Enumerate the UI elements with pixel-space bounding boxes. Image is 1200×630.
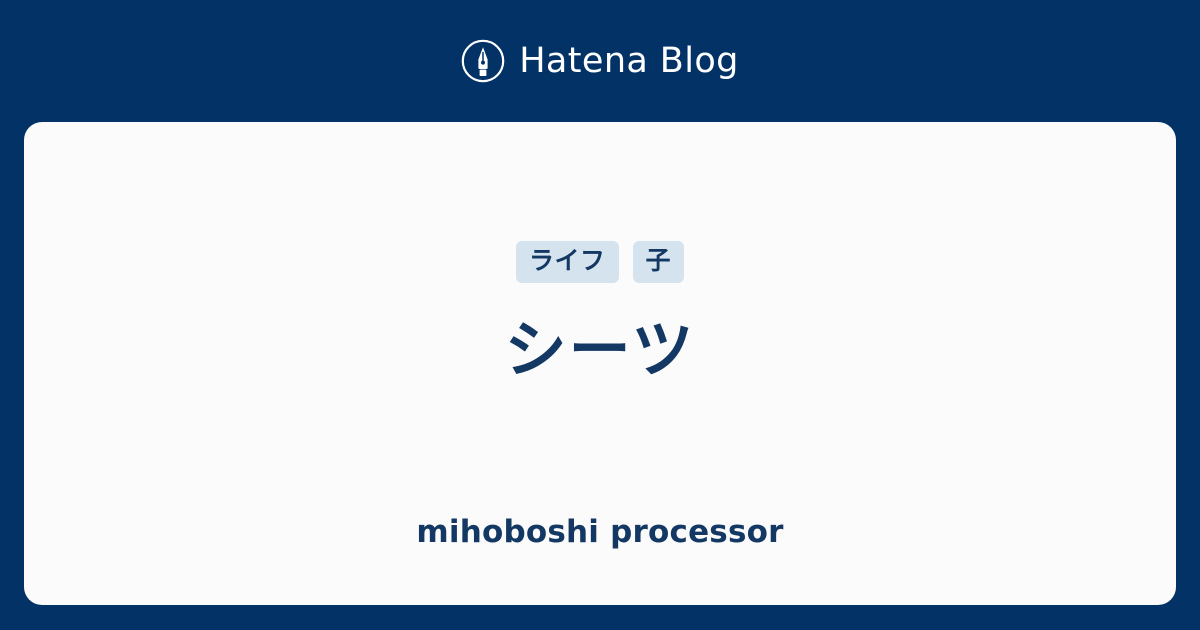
fountain-pen-nib-in-circle-icon — [461, 39, 505, 83]
hatena-blog-brand[interactable]: Hatena Blog — [461, 38, 739, 84]
tag-chip[interactable]: ライフ — [516, 241, 619, 283]
entry-card-body: ライフ 子 シーツ — [24, 122, 1176, 505]
tag-list: ライフ 子 — [516, 241, 684, 283]
og-image-root: Hatena Blog ライフ 子 シーツ mihoboshi processo… — [0, 0, 1200, 630]
tag-chip[interactable]: 子 — [633, 241, 685, 283]
brand-name: Hatena Blog — [519, 39, 739, 83]
blog-name-footer: mihoboshi processor — [24, 505, 1176, 605]
site-header: Hatena Blog — [0, 0, 1200, 122]
entry-card: ライフ 子 シーツ mihoboshi processor — [24, 122, 1176, 605]
entry-title: シーツ — [505, 313, 696, 387]
blog-name[interactable]: mihoboshi processor — [416, 513, 783, 551]
